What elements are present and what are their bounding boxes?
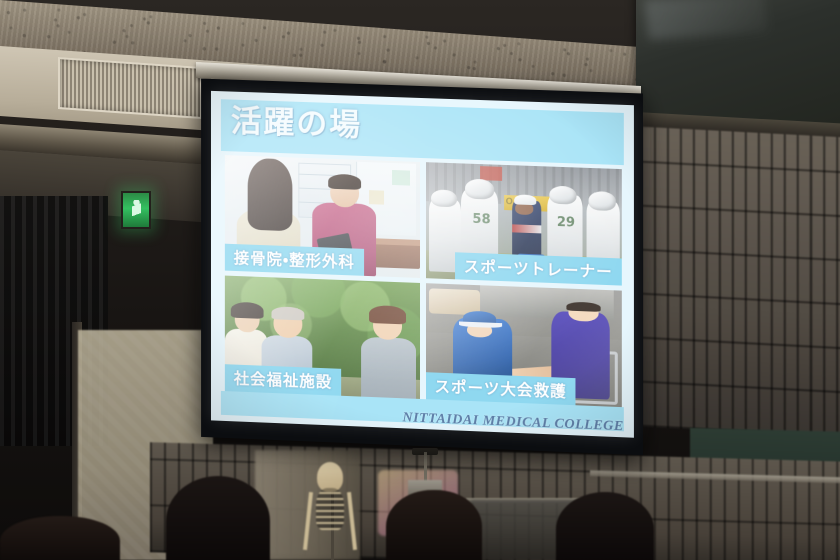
photo-caption-sports-trainer: スポーツトレーナー bbox=[455, 252, 622, 285]
photo-cell-first-aid: スポーツ大会救護 bbox=[425, 283, 621, 407]
screenshot-root: Panasonic 活躍の場 bbox=[0, 0, 840, 560]
audience-head-far-left bbox=[0, 516, 120, 560]
emergency-exit-sign bbox=[121, 191, 151, 229]
monitor-glare bbox=[644, 0, 768, 40]
photo-caption-clinic: 接骨院・整形外科 bbox=[225, 244, 364, 276]
audience-head-center bbox=[386, 490, 482, 560]
skeleton-ribcage bbox=[316, 488, 344, 530]
slide-title: 活躍の場 bbox=[231, 96, 362, 145]
presentation-slide: 活躍の場 bbox=[211, 91, 634, 438]
photo-cell-clinic: 接骨院・整形外科 bbox=[225, 155, 420, 278]
jersey-number-58: 58 bbox=[472, 212, 490, 228]
ceiling-vent-grille bbox=[58, 57, 202, 119]
photo-grid: 接骨院・整形外科 OFF bbox=[225, 155, 622, 407]
photo-cell-sports-trainer: OFF 58 bbox=[425, 162, 621, 285]
running-man-icon bbox=[132, 200, 141, 220]
audience-head-left bbox=[166, 476, 270, 560]
photo-cell-welfare: 社会福祉施設 bbox=[225, 276, 420, 399]
audience-head-right bbox=[556, 492, 654, 560]
slide-canvas: 活躍の場 bbox=[211, 91, 634, 438]
brick-tile-wall-right bbox=[628, 126, 840, 438]
jersey-number-29: 29 bbox=[557, 215, 575, 231]
projection-screen: 活躍の場 bbox=[201, 79, 643, 456]
